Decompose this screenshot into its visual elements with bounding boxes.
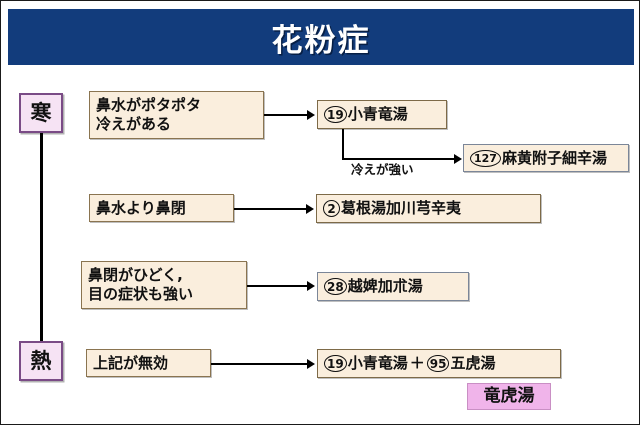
symptom-box-4: 上記が無効: [86, 349, 211, 377]
remedy-number-5a: 19: [324, 355, 347, 372]
connector-symptom3-to-remedy4: [247, 285, 309, 287]
remedy-number-5b: 95: [427, 355, 450, 372]
remedy-row-2: 127 麻黄附子細辛湯: [470, 149, 607, 168]
page-title: 花粉症: [272, 15, 371, 60]
nickname-label: 竜虎湯: [484, 386, 535, 407]
symptom-text-2: 鼻水より鼻閉: [96, 199, 186, 218]
remedy-box-2: 127 麻黄附子細辛湯: [463, 144, 629, 172]
remedy-number-3: 2: [323, 200, 340, 217]
remedy-row-3: 2 葛根湯加川芎辛夷: [323, 199, 461, 218]
arrowhead-branch-to-remedy2: [454, 154, 462, 164]
remedy-plus-operator: ＋: [410, 354, 425, 373]
arrowhead-symptom3-to-remedy4: [307, 281, 315, 291]
connector-remedy1-branch-vertical: [342, 129, 344, 160]
remedy-row-4: 28 越婢加朮湯: [324, 277, 423, 296]
connector-symptom4-to-remedy5: [211, 363, 309, 365]
symptom-text-4: 上記が無効: [93, 354, 168, 373]
arrowhead-symptom1-to-remedy1: [307, 110, 315, 120]
symptom-text-3: 鼻閉がひどく, 目の症状も強い: [88, 266, 193, 304]
symptom-box-1: 鼻水がポタポタ 冷えがある: [89, 91, 264, 139]
remedy-name-1: 小青竜湯: [348, 105, 408, 124]
remedy-row-1: 19 小青竜湯: [324, 105, 408, 124]
remedy-number-2: 127: [470, 150, 501, 167]
remedy-number-1: 19: [324, 106, 347, 123]
arrowhead-symptom4-to-remedy5: [307, 359, 315, 369]
pattern-spine-connector: [40, 133, 43, 341]
remedy-name-3: 葛根湯加川芎辛夷: [341, 199, 461, 218]
slide-canvas: 花粉症 寒 熱 鼻水がポタポタ 冷えがある 19 小青竜湯 冷えが強い 127 …: [0, 0, 640, 425]
connector-symptom1-to-remedy1: [264, 114, 309, 116]
remedy-name-2: 麻黄附子細辛湯: [502, 149, 607, 168]
arrowhead-symptom2-to-remedy3: [306, 204, 314, 214]
nickname-box: 竜虎湯: [467, 383, 551, 410]
remedy-box-5: 19 小青竜湯 ＋ 95 五虎湯: [317, 349, 561, 378]
symptom-box-3: 鼻閉がひどく, 目の症状も強い: [81, 261, 247, 309]
remedy-box-4: 28 越婢加朮湯: [317, 272, 469, 301]
pattern-box-cold: 寒: [19, 93, 63, 133]
remedy-name-5b: 五虎湯: [450, 354, 495, 373]
connector-symptom2-to-remedy3: [234, 208, 308, 210]
symptom-box-2: 鼻水より鼻閉: [89, 194, 234, 222]
remedy-row-5: 19 小青竜湯 ＋ 95 五虎湯: [324, 354, 495, 373]
pattern-label-cold: 寒: [31, 100, 52, 126]
remedy-name-4: 越婢加朮湯: [348, 277, 423, 296]
remedy-name-5a: 小青竜湯: [348, 354, 408, 373]
remedy-box-3: 2 葛根湯加川芎辛夷: [316, 194, 541, 223]
remedy-box-1: 19 小青竜湯: [317, 100, 447, 129]
branch-label-strong-cold: 冷えが強い: [351, 159, 414, 178]
pattern-box-heat: 熱: [19, 341, 63, 381]
symptom-text-1: 鼻水がポタポタ 冷えがある: [96, 96, 201, 134]
pattern-label-heat: 熱: [31, 348, 52, 374]
slide-title-banner: 花粉症: [8, 9, 634, 65]
remedy-number-4: 28: [324, 278, 347, 295]
